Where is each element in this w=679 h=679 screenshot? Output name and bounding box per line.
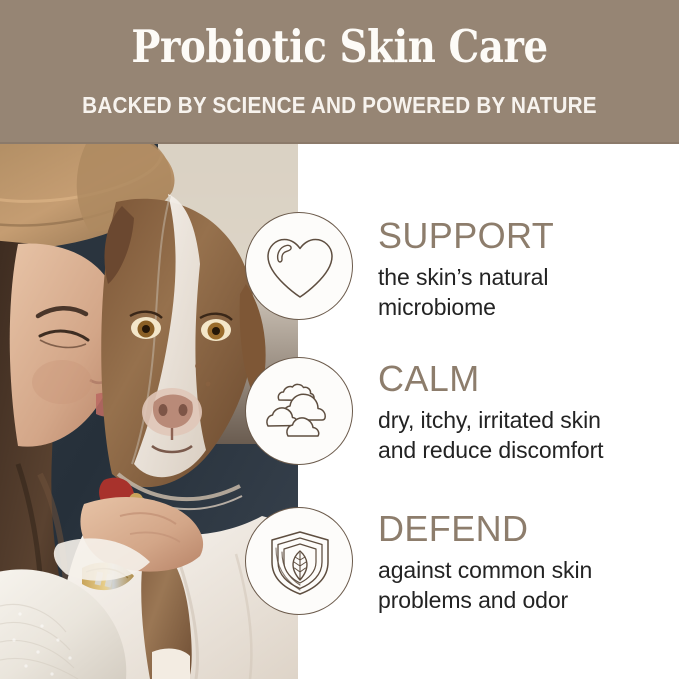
clouds-icon (246, 358, 353, 465)
feature-defend-body: against common skin problems and odor (378, 555, 670, 615)
heart-icon (246, 213, 353, 320)
feature-support: SUPPORT the skin’s natural microbiome (0, 212, 679, 362)
feature-calm: CALM dry, itchy, irritated skin and redu… (0, 357, 679, 507)
feature-defend: DEFEND against common skin problems and … (0, 507, 679, 657)
feature-support-text: SUPPORT the skin’s natural microbiome (378, 216, 670, 322)
feature-calm-heading: CALM (378, 359, 670, 399)
feature-calm-body: dry, itchy, irritated skin and reduce di… (378, 405, 670, 465)
header-banner: Probiotic Skin Care BACKED BY SCIENCE AN… (0, 0, 679, 144)
body-line: problems and odor (378, 585, 670, 615)
body-line: the skin’s natural (378, 262, 670, 292)
feature-defend-text: DEFEND against common skin problems and … (378, 509, 670, 615)
clouds-icon-badge (245, 357, 353, 465)
heart-icon-badge (245, 212, 353, 320)
page-subtitle: BACKED BY SCIENCE AND POWERED BY NATURE (34, 91, 645, 119)
body-line: against common skin (378, 555, 670, 585)
body-line: dry, itchy, irritated skin (378, 405, 670, 435)
body-line: microbiome (378, 292, 670, 322)
promotional-infographic: Probiotic Skin Care BACKED BY SCIENCE AN… (0, 0, 679, 679)
body-line: and reduce discomfort (378, 435, 670, 465)
feature-support-body: the skin’s natural microbiome (378, 262, 670, 322)
feature-calm-text: CALM dry, itchy, irritated skin and redu… (378, 359, 670, 465)
feature-support-heading: SUPPORT (378, 216, 670, 256)
shield-leaf-icon (246, 508, 353, 615)
shield-leaf-icon-badge (245, 507, 353, 615)
feature-defend-heading: DEFEND (378, 509, 670, 549)
page-title: Probiotic Skin Care (48, 19, 632, 75)
